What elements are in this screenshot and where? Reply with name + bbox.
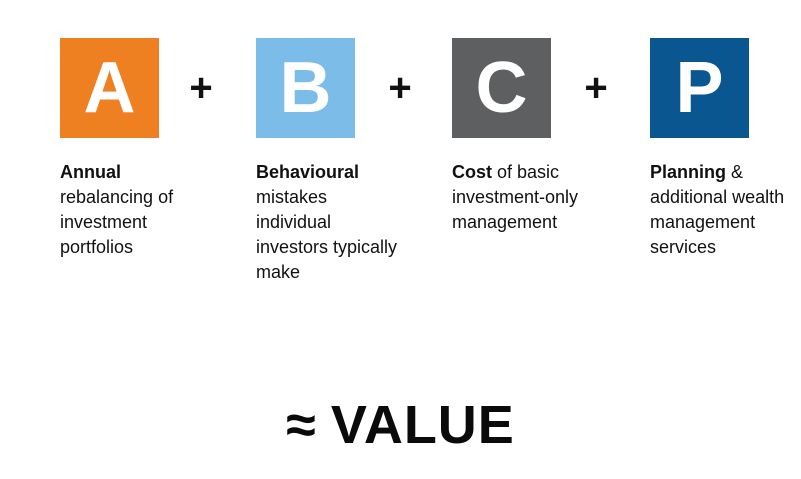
caption-a-rest: rebalancing of investment portfolios <box>60 187 173 257</box>
result-label: VALUE <box>331 395 515 455</box>
term-letter-b: B <box>280 52 332 124</box>
term-tile-c: C <box>452 38 551 138</box>
plus-operator-3: + <box>571 38 621 138</box>
term-letter-c: C <box>476 52 528 124</box>
term-tile-b: B <box>256 38 355 138</box>
caption-b-lead: Behavioural <box>256 162 359 182</box>
caption-p-lead: Planning <box>650 162 726 182</box>
caption-a: Annual rebalancing of investment portfol… <box>60 160 202 260</box>
equation-row: A + B + C + P <box>0 38 801 138</box>
term-tile-a: A <box>60 38 159 138</box>
caption-a-lead: Annual <box>60 162 121 182</box>
approximately-equal-icon: ≈ <box>286 395 317 455</box>
caption-b-rest: mistakes individual investors typically … <box>256 187 397 282</box>
result-line: ≈VALUE <box>0 395 801 455</box>
abcp-value-diagram: A + B + C + P Annual rebalancing of inve… <box>0 0 801 479</box>
term-letter-a: A <box>84 52 136 124</box>
term-tile-p: P <box>650 38 749 138</box>
caption-p: Planning & additional wealth management … <box>650 160 796 260</box>
caption-b: Behavioural mistakes individual investor… <box>256 160 404 285</box>
plus-operator-1: + <box>176 38 226 138</box>
term-letter-p: P <box>675 52 723 124</box>
plus-operator-2: + <box>375 38 425 138</box>
caption-c-lead: Cost <box>452 162 492 182</box>
caption-c: Cost of basic investment-only management <box>452 160 602 235</box>
